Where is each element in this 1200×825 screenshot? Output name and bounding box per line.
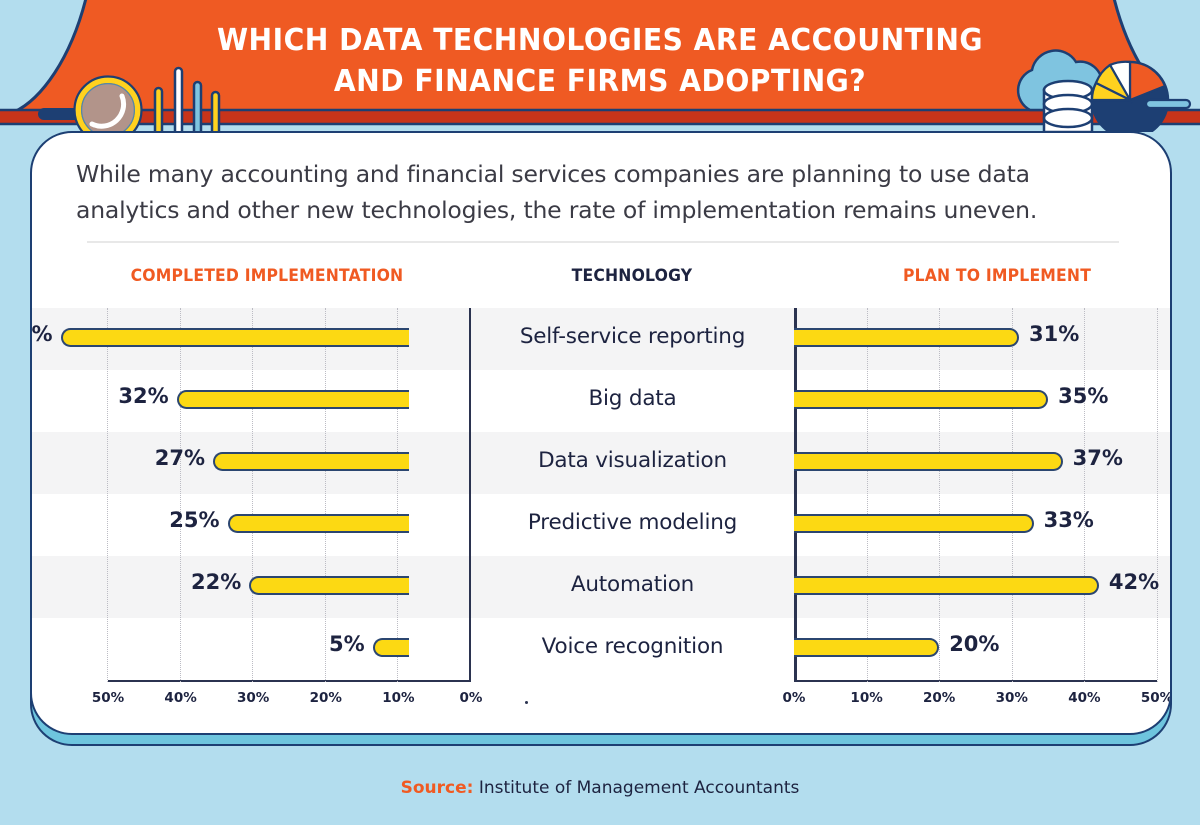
bar-right-1 xyxy=(794,390,1048,409)
tick-left-40%: 40% xyxy=(164,690,196,706)
bar-value-left-2: 27% xyxy=(155,446,205,470)
bar-value-right-4: 42% xyxy=(1109,570,1159,594)
gridline xyxy=(1157,308,1158,682)
bar-left-3 xyxy=(228,514,410,533)
content-card: While many accounting and financial serv… xyxy=(30,131,1172,735)
bar-value-left-1: 32% xyxy=(118,384,168,408)
bar-right-2 xyxy=(794,452,1063,471)
bar-value-left-0: 48% xyxy=(30,322,53,346)
bar-right-3 xyxy=(794,514,1034,533)
intro-paragraph: While many accounting and financial serv… xyxy=(76,157,1130,228)
page-title: WHICH DATA TECHNOLOGIES ARE ACCOUNTING A… xyxy=(36,20,1164,103)
tick-left-50%: 50% xyxy=(92,690,124,706)
bar-right-5 xyxy=(794,638,939,657)
tick-left-30%: 30% xyxy=(237,690,269,706)
bar-value-left-5: 5% xyxy=(329,632,365,656)
technology-label-3: Predictive modeling xyxy=(475,510,790,535)
column-header-plan: PLAN TO IMPLEMENT xyxy=(795,266,1172,286)
technology-label-2: Data visualization xyxy=(475,448,790,473)
technology-label-1: Big data xyxy=(475,386,790,411)
gridline xyxy=(325,308,326,682)
tick-right-30%: 30% xyxy=(996,690,1028,706)
technology-label-0: Self-service reporting xyxy=(475,324,790,349)
tick-left-20%: 20% xyxy=(310,690,342,706)
diverging-bar-chart: 48%32%27%25%22%5% 31%35%37%33%42%20% Sel… xyxy=(32,308,1170,698)
tick-right-0%: 0% xyxy=(783,690,806,706)
bar-value-right-2: 37% xyxy=(1073,446,1123,470)
source-label: Source: xyxy=(401,778,474,798)
bar-left-0 xyxy=(61,328,409,347)
bar-right-0 xyxy=(794,328,1019,347)
gridline xyxy=(1012,308,1013,682)
bar-value-right-5: 20% xyxy=(949,632,999,656)
column-header-completed: COMPLETED IMPLEMENTATION xyxy=(69,266,465,286)
baseline-left xyxy=(108,680,471,683)
bar-left-5 xyxy=(373,638,409,657)
gridline xyxy=(939,308,940,682)
axis-line-left xyxy=(469,308,472,682)
gridline xyxy=(107,308,108,682)
tick-right-50%: 50% xyxy=(1141,690,1172,706)
tick-right-40%: 40% xyxy=(1068,690,1100,706)
gridline xyxy=(397,308,398,682)
source-text: Institute of Management Accountants xyxy=(473,778,799,798)
technology-label-4: Automation xyxy=(475,572,790,597)
tick-left-0%: 0% xyxy=(460,690,483,706)
divider xyxy=(87,241,1119,243)
plot-completed xyxy=(108,308,471,682)
bar-left-1 xyxy=(177,390,409,409)
source-note: Source: Institute of Management Accounta… xyxy=(0,778,1200,798)
page-title-line2: AND FINANCE FIRMS ADOPTING? xyxy=(36,61,1164,102)
bar-left-2 xyxy=(213,452,409,471)
gridline xyxy=(252,308,253,682)
technology-label-5: Voice recognition xyxy=(475,634,790,659)
bar-value-left-4: 22% xyxy=(191,570,241,594)
page-title-line1: WHICH DATA TECHNOLOGIES ARE ACCOUNTING xyxy=(36,20,1164,61)
bar-left-4 xyxy=(249,576,409,595)
header-banner: WHICH DATA TECHNOLOGIES ARE ACCOUNTING A… xyxy=(0,0,1200,132)
infographic-root: WHICH DATA TECHNOLOGIES ARE ACCOUNTING A… xyxy=(0,0,1200,825)
tick-right-20%: 20% xyxy=(923,690,955,706)
decorative-dot xyxy=(525,701,528,704)
axis-line-right xyxy=(794,308,797,682)
bar-value-right-0: 31% xyxy=(1029,322,1079,346)
plot-plan xyxy=(794,308,1157,682)
baseline-right xyxy=(794,680,1157,683)
bar-value-right-1: 35% xyxy=(1058,384,1108,408)
column-header-technology: TECHNOLOGY xyxy=(485,266,779,286)
gridline xyxy=(180,308,181,682)
tick-right-10%: 10% xyxy=(850,690,882,706)
tick-left-10%: 10% xyxy=(382,690,414,706)
bar-right-4 xyxy=(794,576,1099,595)
gridline xyxy=(867,308,868,682)
bar-value-left-3: 25% xyxy=(169,508,219,532)
gridline xyxy=(1084,308,1085,682)
bar-value-right-3: 33% xyxy=(1044,508,1094,532)
